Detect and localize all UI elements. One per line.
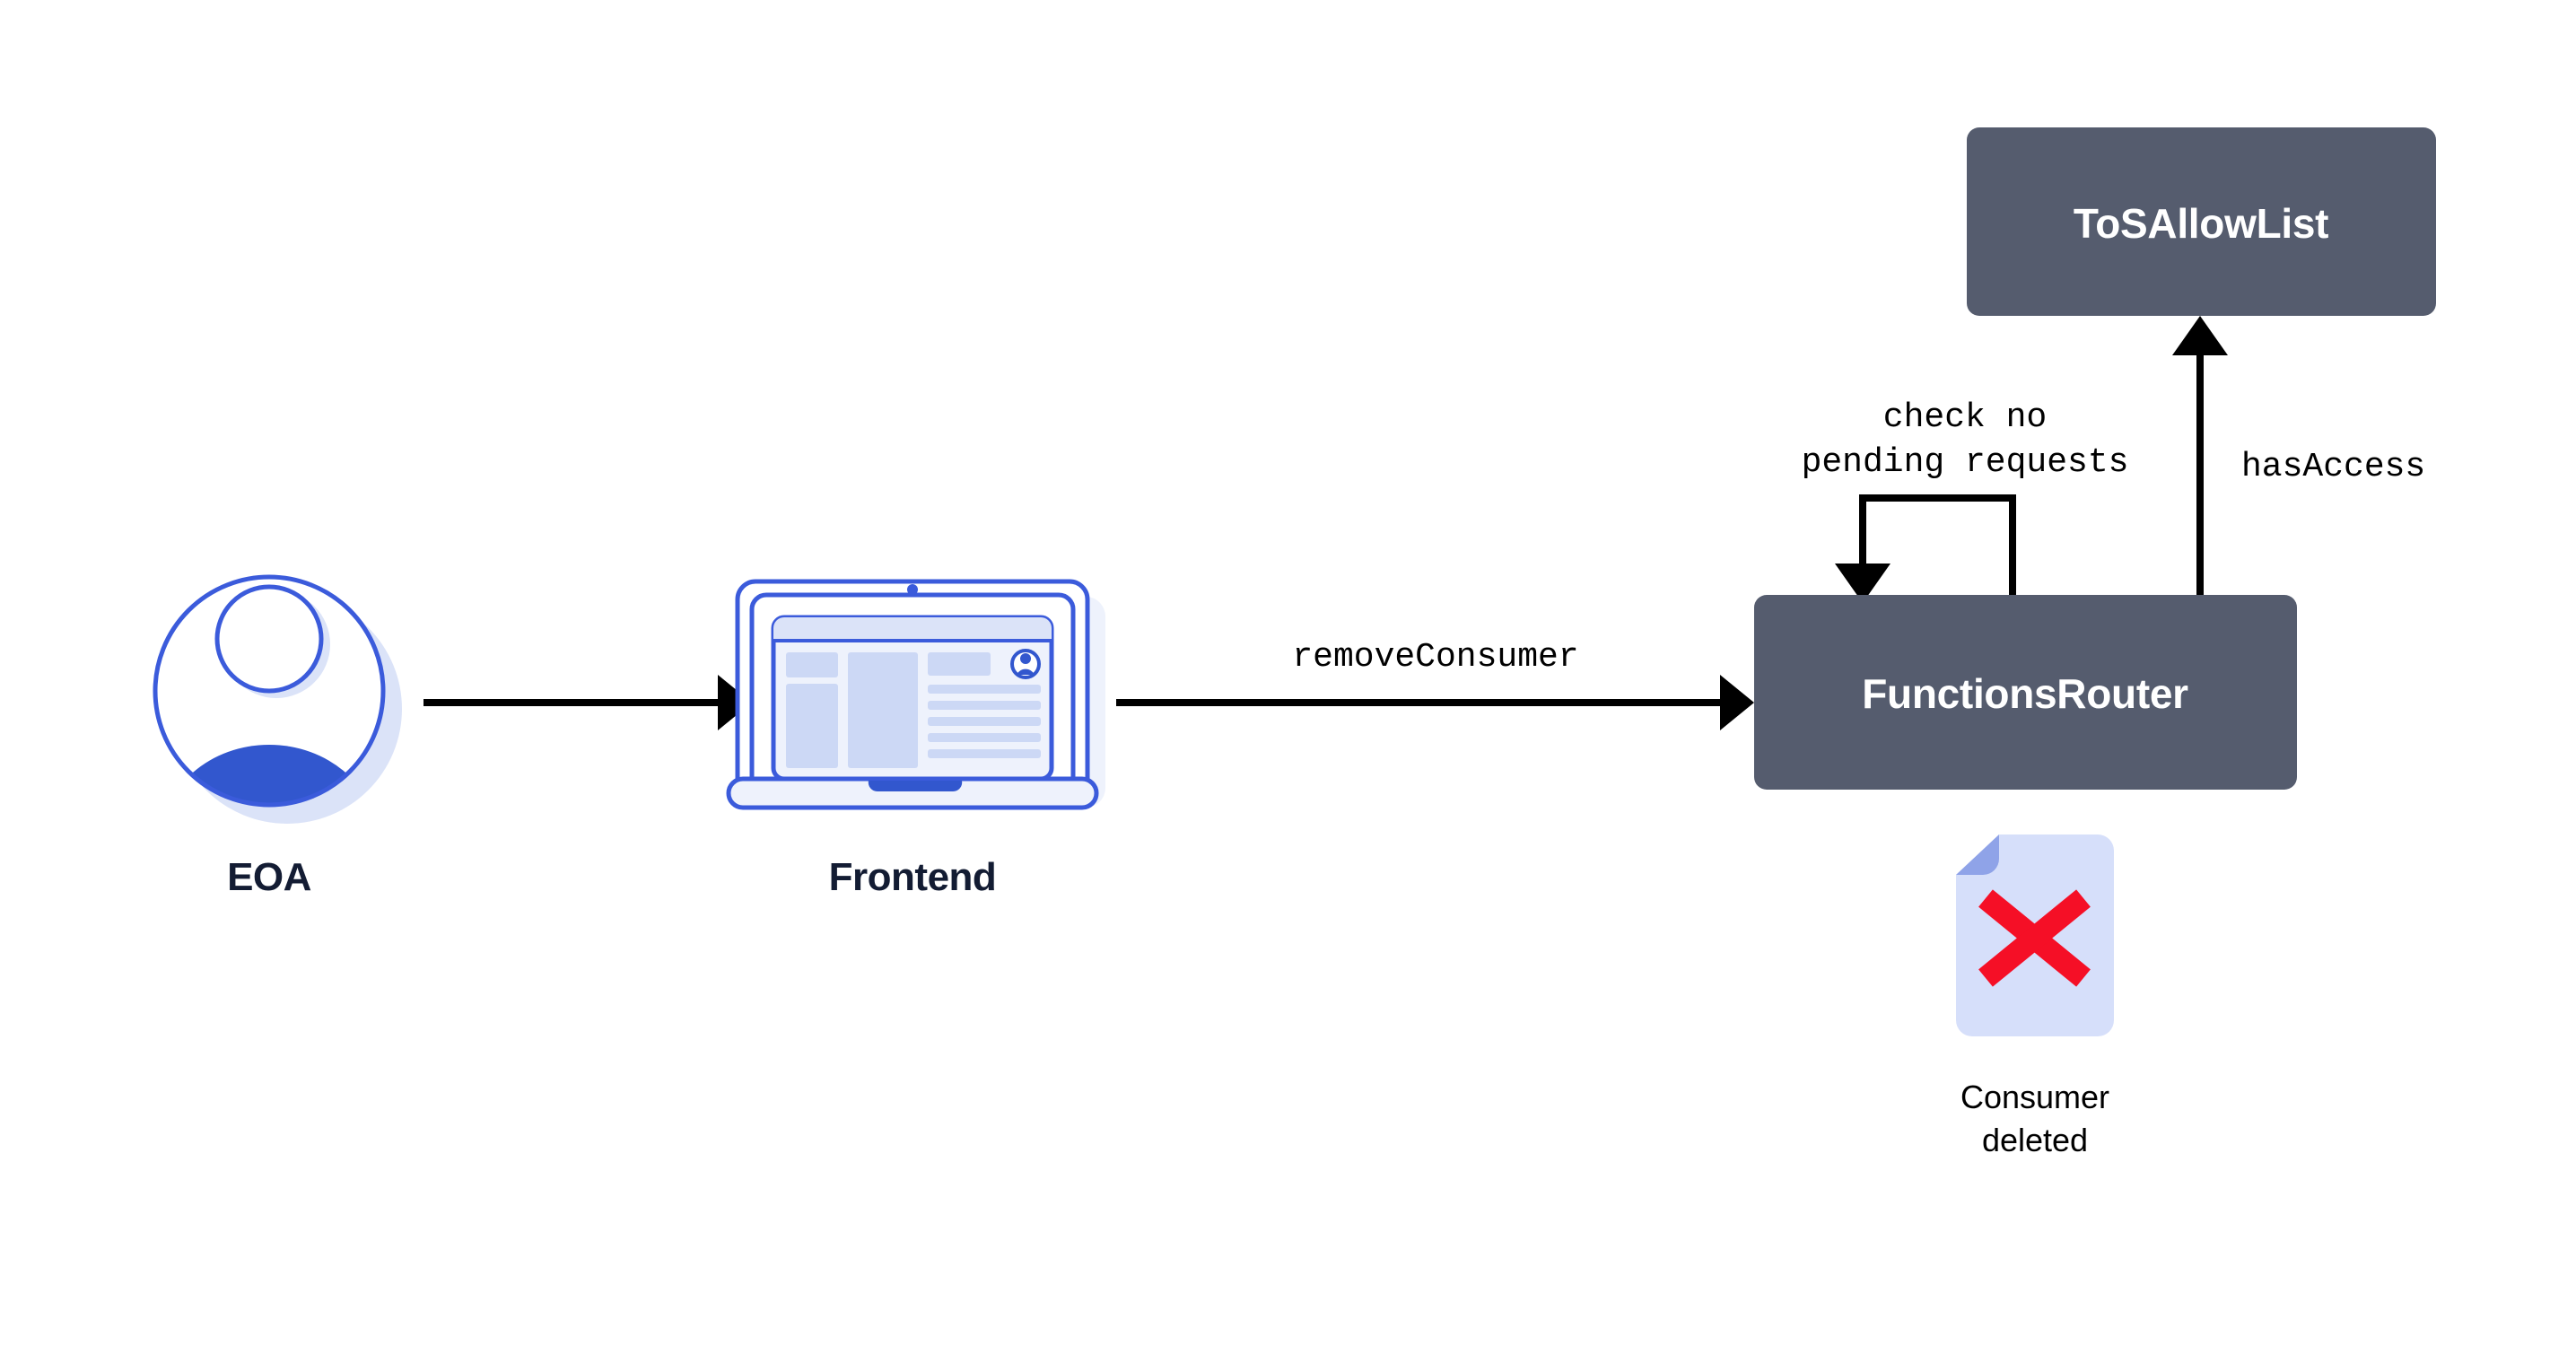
edge-frontend-to-router-arrowhead — [1720, 675, 1754, 730]
document-fold-corner — [1956, 834, 1999, 875]
edge-label-check-no-pending-line2: pending requests — [1802, 443, 2129, 482]
consumer-deleted-caption-line2: deleted — [1982, 1122, 2088, 1158]
screen-line-4 — [928, 733, 1041, 742]
edge-label-check-no-pending-line1: check no — [1883, 398, 2047, 437]
screen-line-5 — [928, 749, 1041, 758]
eoa-label: EOA — [227, 855, 311, 899]
edge-router-self-loop: check no pending requests — [1802, 398, 2129, 603]
edge-label-remove-consumer: removeConsumer — [1292, 638, 1578, 677]
screen-block-panel — [928, 652, 991, 676]
screen-line-2 — [928, 701, 1041, 710]
edge-frontend-to-router: removeConsumer — [1116, 638, 1754, 730]
edge-router-self-loop-path — [1863, 498, 2013, 595]
tos-allow-list-label: ToSAllowList — [2074, 200, 2328, 247]
laptop-icon — [729, 581, 1105, 808]
document-deleted-icon — [1956, 834, 2114, 1036]
screen-block-sidebar-top — [786, 652, 838, 677]
frontend-label: Frontend — [829, 855, 997, 899]
screen-avatar-head — [1020, 653, 1031, 664]
screen-block-main — [848, 652, 918, 768]
edge-router-to-allowlist-arrowhead — [2172, 316, 2228, 355]
functions-router-label: FunctionsRouter — [1862, 670, 2188, 717]
edge-label-has-access: hasAccess — [2241, 448, 2425, 486]
edge-router-to-allowlist: hasAccess — [2172, 316, 2425, 595]
screen-line-1 — [928, 685, 1041, 694]
node-tos-allow-list[interactable]: ToSAllowList — [1967, 127, 2436, 316]
laptop-camera-icon — [907, 584, 918, 595]
diagram-canvas: EOA — [0, 0, 2576, 1363]
screen-titlebar — [773, 617, 1052, 641]
screen-line-3 — [928, 717, 1041, 726]
flow-diagram: EOA — [0, 0, 2576, 1363]
node-functions-router[interactable]: FunctionsRouter — [1754, 595, 2297, 790]
consumer-deleted-caption-line1: Consumer — [1960, 1079, 2109, 1115]
laptop-base-notch — [869, 781, 962, 791]
screen-block-sidebar-bottom — [786, 684, 838, 768]
avatar-body-shape — [162, 745, 377, 933]
edge-eoa-to-frontend — [424, 675, 752, 730]
avatar-head-circle — [217, 587, 321, 691]
